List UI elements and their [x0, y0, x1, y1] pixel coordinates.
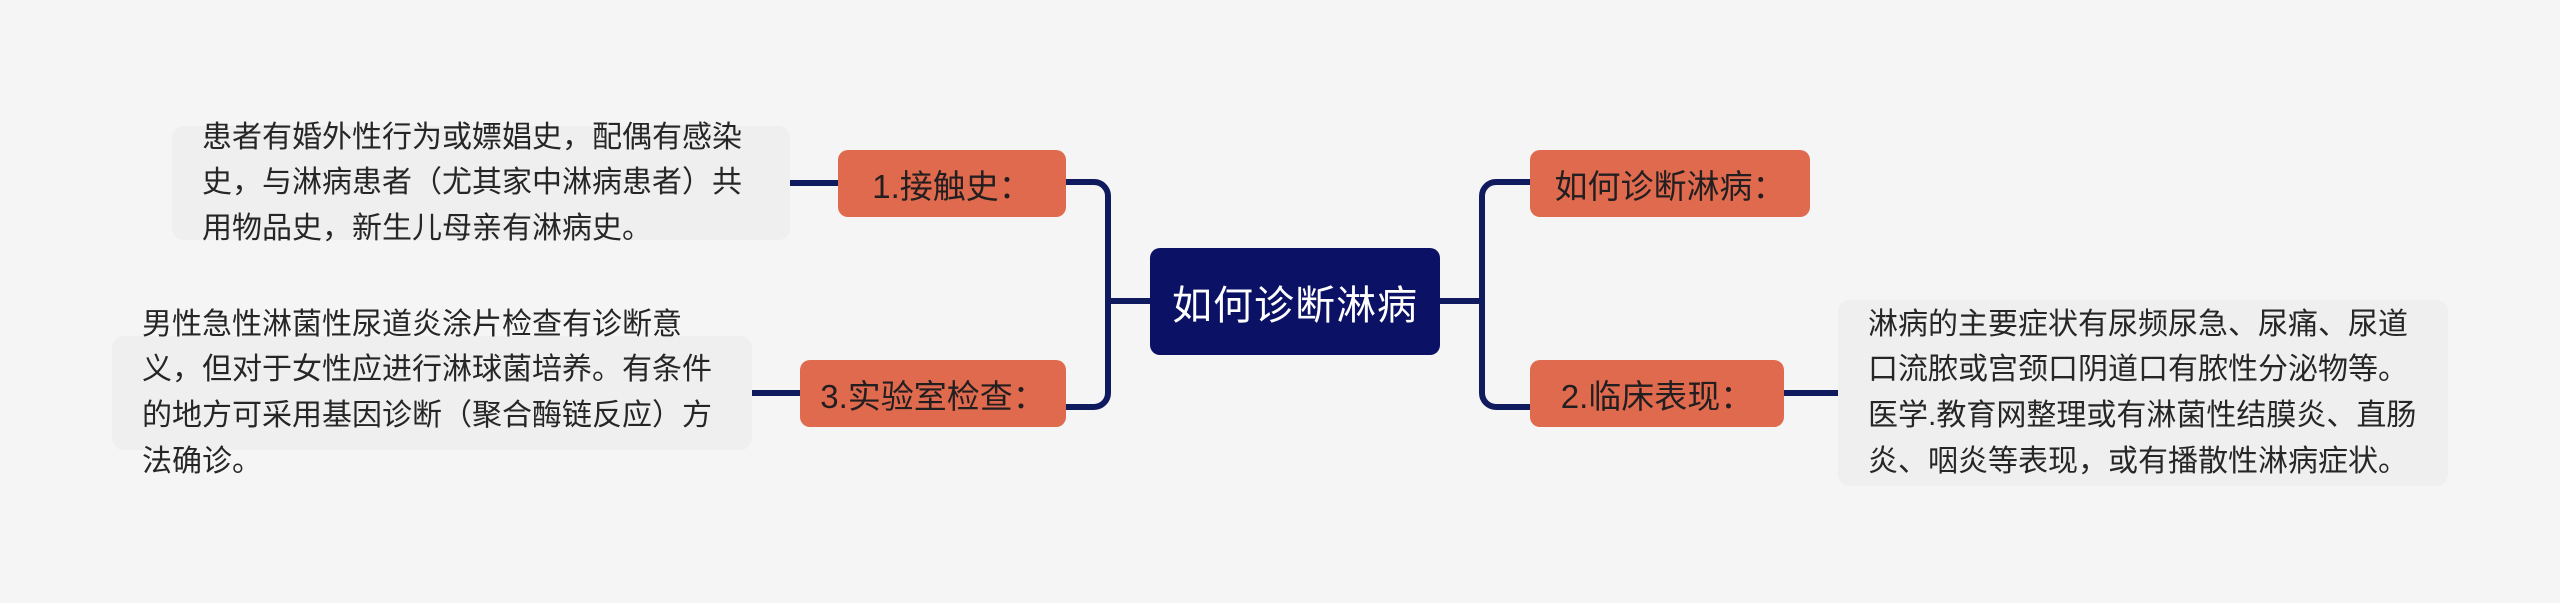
branch-node-how-to-diagnose-label: 如何诊断淋病：	[1555, 160, 1786, 208]
branch-node-contact-history[interactable]: 1.接触史：	[838, 150, 1066, 217]
detail-panel-contact-history-text: 患者有婚外性行为或嫖娼史，配偶有感染史，与淋病患者（尤其家中淋病患者）共用物品史…	[202, 115, 760, 252]
detail-panel-lab-examination: 男性急性淋菌性尿道炎涂片检查有诊断意义，但对于女性应进行淋球菌培养。有条件的地方…	[112, 336, 752, 450]
connector-right-spine-lower	[1482, 301, 1530, 407]
detail-panel-clinical-manifestation: 淋病的主要症状有尿频尿急、尿痛、尿道口流脓或宫颈口阴道口有脓性分泌物等。医学.教…	[1838, 300, 2448, 486]
connector-right-spine	[1482, 182, 1530, 301]
detail-panel-lab-examination-text: 男性急性淋菌性尿道炎涂片检查有诊断意义，但对于女性应进行淋球菌培养。有条件的地方…	[142, 302, 722, 484]
branch-node-how-to-diagnose[interactable]: 如何诊断淋病：	[1530, 150, 1810, 217]
mind-map-canvas: 如何诊断淋病 1.接触史： 患者有婚外性行为或嫖娼史，配偶有感染史，与淋病患者（…	[0, 0, 2560, 603]
root-node[interactable]: 如何诊断淋病	[1150, 248, 1440, 355]
connector-left-spine-lower	[1065, 301, 1108, 407]
branch-node-lab-examination[interactable]: 3.实验室检查：	[800, 360, 1066, 427]
branch-node-clinical-manifestation-label: 2.临床表现：	[1561, 370, 1754, 418]
detail-panel-contact-history: 患者有婚外性行为或嫖娼史，配偶有感染史，与淋病患者（尤其家中淋病患者）共用物品史…	[172, 126, 790, 240]
branch-node-contact-history-label: 1.接触史：	[872, 160, 1032, 208]
branch-node-lab-examination-label: 3.实验室检查：	[820, 370, 1046, 418]
connector-left-spine	[1065, 182, 1108, 301]
branch-node-clinical-manifestation[interactable]: 2.临床表现：	[1530, 360, 1784, 427]
detail-panel-clinical-manifestation-text: 淋病的主要症状有尿频尿急、尿痛、尿道口流脓或宫颈口阴道口有脓性分泌物等。医学.教…	[1868, 302, 2418, 484]
root-node-label: 如何诊断淋病	[1172, 273, 1418, 331]
